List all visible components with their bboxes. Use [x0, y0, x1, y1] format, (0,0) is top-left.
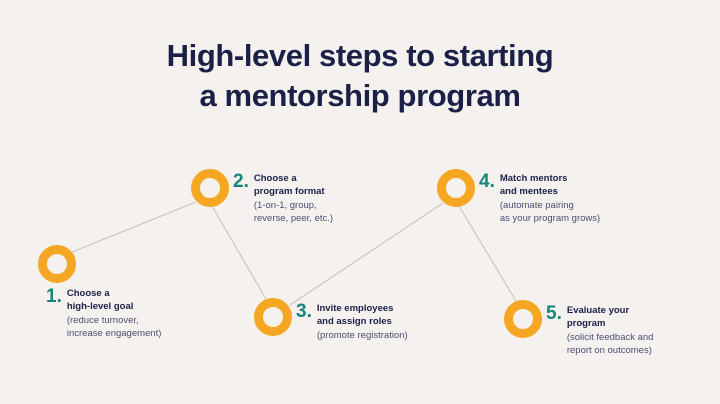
- step-label-4: 4. Match mentors and mentees (automate p…: [479, 172, 600, 226]
- step-sub-1-line-2: increase engagement): [67, 327, 162, 340]
- step-label-3: 3. Invite employees and assign roles (pr…: [296, 302, 408, 342]
- step-heading-4-line-1: Match mentors: [500, 172, 600, 185]
- step-sub-3-line-1: (promote registration): [317, 329, 408, 342]
- step-sub-5-line-1: (solicit feedback and: [567, 331, 654, 344]
- step-sub-1-line-1: (reduce turnover,: [67, 314, 162, 327]
- step-heading-1-line-1: Choose a: [67, 287, 162, 300]
- step-heading-2-line-1: Choose a: [254, 172, 333, 185]
- step-sub-4-line-1: (automate pairing: [500, 199, 600, 212]
- step-heading-3-line-2: and assign roles: [317, 315, 408, 328]
- step-sub-2-line-2: reverse, peer, etc.): [254, 212, 333, 225]
- infographic-canvas: High-level steps to starting a mentorshi…: [0, 0, 720, 404]
- step-sub-5-line-2: report on outcomes): [567, 344, 654, 357]
- step-heading-1-line-2: high-level goal: [67, 300, 162, 313]
- step-heading-5-line-1: Evaluate your: [567, 304, 654, 317]
- step-heading-2-line-2: program format: [254, 185, 333, 198]
- step-heading-3-line-1: Invite employees: [317, 302, 408, 315]
- step-number-1: 1.: [46, 287, 62, 306]
- step-heading-5-line-2: program: [567, 317, 654, 330]
- step-marker-circle-3: [254, 298, 292, 336]
- step-number-2: 2.: [233, 172, 249, 191]
- step-marker-circle-2: [191, 169, 229, 207]
- step-description-5: Evaluate your program (solicit feedback …: [567, 304, 654, 358]
- step-label-2: 2. Choose a program format (1-on-1, grou…: [233, 172, 333, 226]
- step-label-1: 1. Choose a high-level goal (reduce turn…: [46, 287, 161, 341]
- step-description-4: Match mentors and mentees (automate pair…: [500, 172, 600, 226]
- step-description-1: Choose a high-level goal (reduce turnove…: [67, 287, 162, 341]
- step-number-4: 4.: [479, 172, 495, 191]
- step-marker-circle-1: [38, 245, 76, 283]
- step-marker-circle-5: [504, 300, 542, 338]
- connector-1-2: [72, 202, 196, 252]
- step-label-5: 5. Evaluate your program (solicit feedba…: [546, 304, 653, 358]
- step-description-2: Choose a program format (1-on-1, group, …: [254, 172, 333, 226]
- step-heading-4-line-2: and mentees: [500, 185, 600, 198]
- step-description-3: Invite employees and assign roles (promo…: [317, 302, 408, 342]
- step-sub-2-line-1: (1-on-1, group,: [254, 199, 333, 212]
- step-marker-circle-4: [437, 169, 475, 207]
- step-sub-4-line-2: as your program grows): [500, 212, 600, 225]
- step-number-3: 3.: [296, 302, 312, 321]
- step-number-5: 5.: [546, 304, 562, 323]
